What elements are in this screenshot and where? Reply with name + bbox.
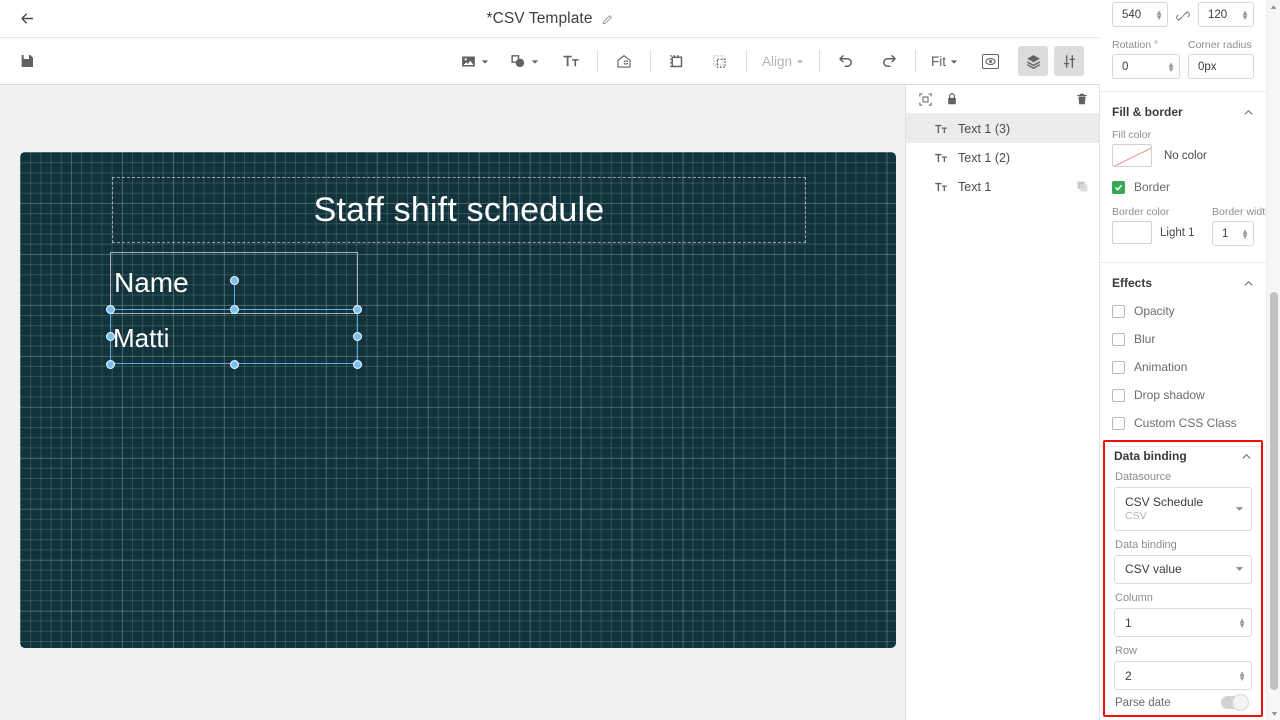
rotation-handle[interactable] bbox=[230, 276, 239, 285]
bring-to-front-button[interactable] bbox=[662, 46, 692, 76]
widget-tool-button[interactable] bbox=[609, 46, 639, 76]
rotation-stepper[interactable]: ▲▼ bbox=[1167, 62, 1175, 72]
text-tool-button[interactable] bbox=[556, 46, 586, 76]
effect-opacity-row[interactable]: Opacity bbox=[1100, 304, 1266, 318]
undo-button[interactable] bbox=[831, 46, 861, 76]
drop-shadow-label: Drop shadow bbox=[1134, 388, 1205, 402]
rotation-input[interactable]: 0 ▲▼ bbox=[1112, 54, 1180, 79]
datasource-label: Datasource bbox=[1105, 463, 1261, 487]
image-tool-button[interactable] bbox=[456, 46, 493, 76]
data-binding-section: Data binding Datasource CSV Schedule CSV… bbox=[1103, 440, 1263, 717]
align-label: Align bbox=[762, 54, 792, 69]
opacity-checkbox[interactable] bbox=[1112, 305, 1125, 318]
scroll-down-arrow-icon[interactable] bbox=[1267, 706, 1280, 720]
fill-color-label: Fill color bbox=[1112, 129, 1254, 141]
datasource-select[interactable]: CSV Schedule CSV bbox=[1114, 487, 1252, 531]
row-value: 2 bbox=[1125, 669, 1238, 683]
row-label: Row bbox=[1105, 637, 1261, 661]
redo-button[interactable] bbox=[874, 46, 904, 76]
column-stepper[interactable]: ▲▼ bbox=[1238, 618, 1246, 628]
layer-item-label: Text 1 (2) bbox=[958, 151, 1010, 165]
properties-scrollbar[interactable] bbox=[1266, 0, 1280, 720]
height-stepper[interactable]: ▲▼ bbox=[1241, 10, 1249, 20]
chevron-down-icon bbox=[1235, 504, 1244, 515]
border-checkbox-label: Border bbox=[1134, 180, 1170, 194]
row-input[interactable]: 2 ▲▼ bbox=[1114, 661, 1252, 690]
scroll-up-arrow-icon[interactable] bbox=[1267, 0, 1280, 14]
height-input[interactable]: 120 ▲▼ bbox=[1198, 2, 1254, 27]
layers-icon bbox=[1025, 53, 1042, 70]
chevron-down-icon bbox=[796, 54, 804, 69]
fit-label: Fit bbox=[931, 54, 946, 69]
row-stepper[interactable]: ▲▼ bbox=[1238, 671, 1246, 681]
effect-animation-row[interactable]: Animation bbox=[1100, 360, 1266, 374]
canvas-name-text: Name bbox=[111, 267, 189, 299]
trash-icon[interactable] bbox=[1075, 92, 1089, 106]
effect-drop-shadow-row[interactable]: Drop shadow bbox=[1100, 388, 1266, 402]
canvas-title-textbox[interactable]: Staff shift schedule bbox=[112, 177, 806, 243]
preview-icon bbox=[982, 54, 999, 69]
border-color-swatch[interactable] bbox=[1112, 221, 1152, 244]
parse-date-toggle[interactable] bbox=[1221, 696, 1249, 709]
resize-handle-bottom-center[interactable] bbox=[230, 360, 239, 369]
column-value: 1 bbox=[1125, 616, 1238, 630]
corner-radius-input[interactable]: 0px bbox=[1188, 54, 1254, 79]
resize-handle-top-left[interactable] bbox=[106, 305, 115, 314]
text-icon bbox=[562, 52, 580, 70]
border-width-input[interactable]: 1 ▲▼ bbox=[1212, 221, 1254, 246]
fill-color-row: No color bbox=[1100, 144, 1266, 167]
data-binding-select[interactable]: CSV value bbox=[1114, 555, 1252, 584]
fill-border-title: Fill & border bbox=[1112, 105, 1183, 119]
resize-handle-top-right[interactable] bbox=[353, 305, 362, 314]
toolbar: Align Fit bbox=[0, 38, 1100, 85]
custom-css-label: Custom CSS Class bbox=[1134, 416, 1237, 430]
effect-custom-css-row[interactable]: Custom CSS Class bbox=[1100, 416, 1266, 430]
custom-css-checkbox[interactable] bbox=[1112, 417, 1125, 430]
blur-label: Blur bbox=[1134, 332, 1155, 346]
layers-panel-button[interactable] bbox=[1018, 46, 1048, 76]
data-binding-field-label: Data binding bbox=[1105, 531, 1261, 555]
border-width-stepper[interactable]: ▲▼ bbox=[1241, 229, 1249, 239]
house-widget-icon bbox=[615, 52, 633, 70]
layer-item-label: Text 1 (3) bbox=[958, 122, 1010, 136]
resize-handle-top-center[interactable] bbox=[230, 305, 239, 314]
blur-checkbox[interactable] bbox=[1112, 333, 1125, 346]
datasource-value: CSV Schedule bbox=[1125, 495, 1235, 510]
border-checkbox[interactable] bbox=[1112, 181, 1125, 194]
send-to-back-button[interactable] bbox=[705, 46, 735, 76]
rotation-value: 0 bbox=[1122, 61, 1167, 73]
parse-date-label: Parse date bbox=[1115, 697, 1171, 709]
layers-panel: Text 1 (3) Text 1 (2) Text 1 bbox=[906, 85, 1100, 720]
align-button[interactable]: Align bbox=[758, 46, 808, 76]
fill-border-section-header[interactable]: Fill & border bbox=[1100, 92, 1266, 119]
opacity-label: Opacity bbox=[1134, 304, 1175, 318]
text-layer-icon bbox=[934, 122, 948, 136]
chevron-down-icon bbox=[950, 54, 958, 69]
arrow-left-icon bbox=[18, 9, 37, 28]
design-canvas[interactable]: Staff shift schedule Name Matti bbox=[20, 152, 896, 648]
data-binding-section-header[interactable]: Data binding bbox=[1105, 442, 1261, 463]
send-to-back-icon bbox=[711, 53, 728, 70]
shape-icon bbox=[510, 53, 527, 70]
data-binding-value: CSV value bbox=[1125, 562, 1235, 577]
resize-handle-bottom-left[interactable] bbox=[106, 360, 115, 369]
lock-icon[interactable] bbox=[945, 92, 959, 106]
chevron-down-icon bbox=[1235, 564, 1244, 575]
pencil-icon[interactable] bbox=[601, 13, 614, 26]
size-row: 540 ▲▼ 120 ▲▼ bbox=[1100, 2, 1266, 27]
properties-panel-button[interactable] bbox=[1054, 46, 1084, 76]
data-binding-title: Data binding bbox=[1114, 449, 1187, 463]
layer-item-2[interactable]: Text 1 bbox=[906, 172, 1099, 201]
column-input[interactable]: 1 ▲▼ bbox=[1114, 608, 1252, 637]
shape-tool-button[interactable] bbox=[506, 46, 543, 76]
chevron-up-icon[interactable] bbox=[1243, 107, 1254, 118]
layers-panel-header bbox=[906, 85, 1099, 114]
properties-panel: 540 ▲▼ 120 ▲▼ bbox=[1100, 0, 1280, 720]
border-width-value: 1 bbox=[1222, 228, 1241, 240]
fill-color-swatch[interactable] bbox=[1112, 144, 1152, 167]
canvas-title-text: Staff shift schedule bbox=[314, 191, 605, 230]
canvas-area[interactable]: Staff shift schedule Name Matti bbox=[0, 85, 906, 720]
chevron-up-icon[interactable] bbox=[1243, 278, 1254, 289]
border-color-label: Border color bbox=[1112, 206, 1195, 218]
border-checkbox-row[interactable]: Border bbox=[1100, 180, 1266, 194]
border-detail-row: Border color Light 1 Border width 1 ▲▼ bbox=[1100, 206, 1266, 246]
group-select-icon[interactable] bbox=[918, 92, 933, 107]
resize-handle-middle-right[interactable] bbox=[353, 332, 362, 341]
undo-icon bbox=[837, 52, 855, 70]
resize-handle-bottom-right[interactable] bbox=[353, 360, 362, 369]
parse-date-row: Parse date bbox=[1105, 690, 1261, 709]
effects-title: Effects bbox=[1112, 276, 1152, 290]
preview-button[interactable] bbox=[975, 46, 1005, 76]
properties-icon bbox=[1061, 53, 1078, 70]
rotation-corner-row: Rotation ° 0 ▲▼ Corner radius 0px bbox=[1100, 39, 1266, 79]
back-button[interactable] bbox=[8, 0, 46, 38]
data-binding-indicator-icon bbox=[1076, 180, 1089, 193]
text-layer-icon bbox=[934, 180, 948, 194]
save-button[interactable] bbox=[12, 46, 42, 76]
text-layer-icon bbox=[934, 151, 948, 165]
chevron-down-icon bbox=[481, 54, 489, 69]
broken-link-icon[interactable] bbox=[1176, 9, 1190, 23]
width-input[interactable]: 540 ▲▼ bbox=[1112, 2, 1168, 27]
column-label: Column bbox=[1105, 584, 1261, 608]
height-value: 120 bbox=[1208, 9, 1241, 21]
title-bar: *CSV Template bbox=[0, 0, 1100, 38]
effect-blur-row[interactable]: Blur bbox=[1100, 332, 1266, 346]
effects-section-header[interactable]: Effects bbox=[1100, 263, 1266, 290]
bring-to-front-icon bbox=[668, 53, 685, 70]
animation-checkbox[interactable] bbox=[1112, 361, 1125, 374]
fill-color-value: No color bbox=[1164, 150, 1207, 162]
layer-item-label: Text 1 bbox=[958, 180, 991, 194]
canvas-value-text: Matti bbox=[110, 323, 169, 354]
border-width-label: Border width bbox=[1212, 206, 1254, 218]
rotation-label: Rotation ° bbox=[1112, 39, 1180, 51]
layer-item-1[interactable]: Text 1 (2) bbox=[906, 143, 1099, 172]
animation-label: Animation bbox=[1134, 360, 1187, 374]
scrollbar-thumb[interactable] bbox=[1270, 292, 1278, 690]
width-value: 540 bbox=[1122, 9, 1155, 21]
datasource-subtext: CSV bbox=[1125, 510, 1235, 523]
document-title: *CSV Template bbox=[486, 10, 592, 28]
redo-icon bbox=[880, 52, 898, 70]
resize-handle-middle-left[interactable] bbox=[106, 332, 115, 341]
canvas-value-textbox[interactable]: Matti bbox=[110, 309, 358, 367]
chevron-down-icon bbox=[531, 54, 539, 69]
corner-radius-label: Corner radius bbox=[1188, 39, 1254, 51]
drop-shadow-checkbox[interactable] bbox=[1112, 389, 1125, 402]
fit-button[interactable]: Fit bbox=[927, 46, 962, 76]
width-stepper[interactable]: ▲▼ bbox=[1155, 10, 1163, 20]
image-icon bbox=[460, 53, 477, 70]
save-icon bbox=[19, 53, 35, 69]
corner-radius-value: 0px bbox=[1198, 61, 1249, 73]
chevron-up-icon[interactable] bbox=[1241, 451, 1252, 462]
layer-item-0[interactable]: Text 1 (3) bbox=[906, 114, 1099, 143]
border-color-value: Light 1 bbox=[1160, 227, 1195, 239]
